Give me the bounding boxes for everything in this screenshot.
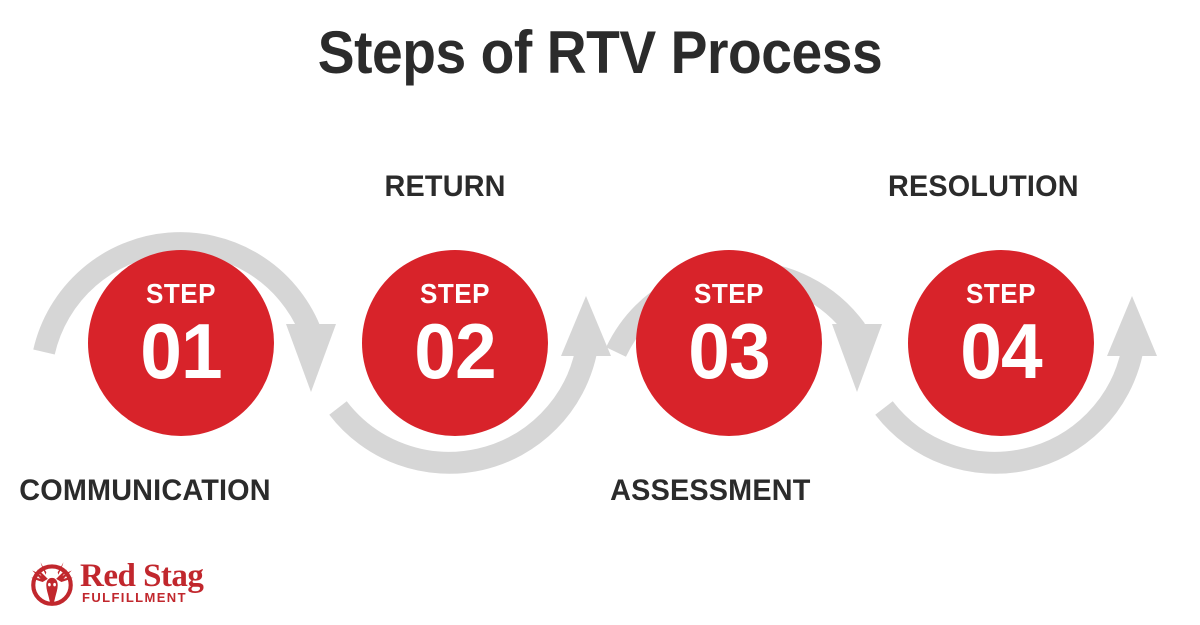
stag-head-icon — [26, 556, 78, 608]
step-node-3[interactable]: STEP 03 — [636, 250, 822, 436]
stage-label-assessment: ASSESSMENT — [610, 474, 810, 508]
step-word-2: STEP — [369, 280, 542, 308]
step-word-1: STEP — [95, 280, 268, 308]
logo-wordmark: Red Stag FULFILLMENT — [80, 556, 220, 608]
step-text-2: STEP 02 — [362, 280, 548, 390]
step-word-4: STEP — [915, 280, 1088, 308]
step-node-4[interactable]: STEP 04 — [908, 250, 1094, 436]
step-node-1[interactable]: STEP 01 — [88, 250, 274, 436]
step-text-1: STEP 01 — [88, 280, 274, 390]
step-number-2: 02 — [366, 312, 545, 390]
step-number-3: 03 — [640, 312, 819, 390]
step-text-4: STEP 04 — [908, 280, 1094, 390]
step-text-3: STEP 03 — [636, 280, 822, 390]
stage-label-resolution: RESOLUTION — [888, 170, 1079, 204]
logo-tagline: FULFILLMENT — [82, 590, 187, 605]
infographic-canvas: Steps of RTV Process STEP 01 — [0, 0, 1200, 625]
step-word-3: STEP — [643, 280, 816, 308]
brand-logo[interactable]: Red Stag FULFILLMENT — [26, 556, 216, 612]
step-number-4: 04 — [912, 312, 1091, 390]
step-number-1: 01 — [92, 312, 271, 390]
step-node-2[interactable]: STEP 02 — [362, 250, 548, 436]
stage-label-communication: COMMUNICATION — [19, 474, 271, 508]
stage-label-return: RETURN — [385, 170, 506, 204]
